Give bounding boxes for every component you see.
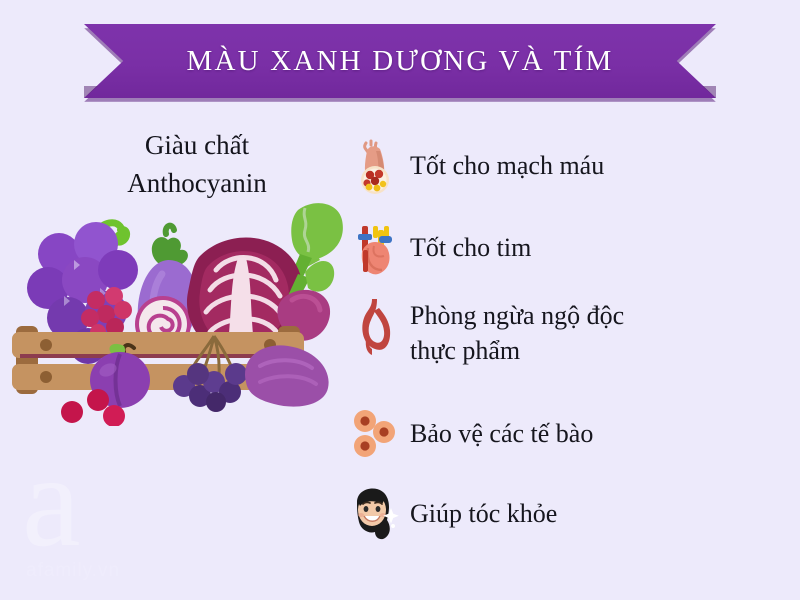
benefit-label-blood-vessel: Tốt cho mạch máu [406,136,604,183]
page-title: MÀU XANH DƯƠNG VÀ TÍM [187,45,614,78]
watermark: a afamily.vn [22,448,172,588]
benefit-row-heart: Tốt cho tim [344,218,794,284]
woman-hair-icon [344,480,406,546]
benefit-label-stomach: Phòng ngừa ngộ độc thực phẩm [406,296,624,368]
benefit-line: Tốt cho tim [410,230,531,265]
anthocyanin-heading: Giàu chất Anthocyanin [62,126,332,203]
benefit-label-hair: Giúp tóc khỏe [406,480,557,531]
title-banner: MÀU XANH DƯƠNG VÀ TÍM [84,24,716,98]
benefit-row-cells: Bảo vệ các tế bào [344,402,794,468]
benefit-line: Bảo vệ các tế bào [410,416,593,451]
stomach-icon [344,296,406,362]
benefit-label-cells: Bảo vệ các tế bào [406,402,593,451]
benefit-label-heart: Tốt cho tim [406,218,531,265]
banner-fold-left [84,86,98,98]
benefit-line: Phòng ngừa ngộ độc [410,298,624,333]
benefit-row-stomach: Phòng ngừa ngộ độc thực phẩm [344,296,794,368]
benefit-line: thực phẩm [410,333,624,368]
banner-ribbon: MÀU XANH DƯƠNG VÀ TÍM [84,24,716,98]
sweet-potato-icon [245,345,329,406]
heart-icon [344,218,406,284]
benefit-row-hair: Giúp tóc khỏe [344,480,794,546]
blood-vessel-icon [344,136,406,202]
benefit-line: Tốt cho mạch máu [410,148,604,183]
watermark-logo: a [22,448,172,554]
benefit-line: Giúp tóc khỏe [410,496,557,531]
purple-produce-illustration [2,196,350,426]
cells-icon [344,402,406,468]
benefit-row-blood-vessel: Tốt cho mạch máu [344,136,794,202]
watermark-text: afamily.vn [26,560,120,582]
anthocyanin-heading-line1: Giàu chất [145,130,249,160]
benefits-list: Tốt cho mạch máu Tốt cho tim [344,136,794,552]
banner-fold-right [702,86,716,98]
